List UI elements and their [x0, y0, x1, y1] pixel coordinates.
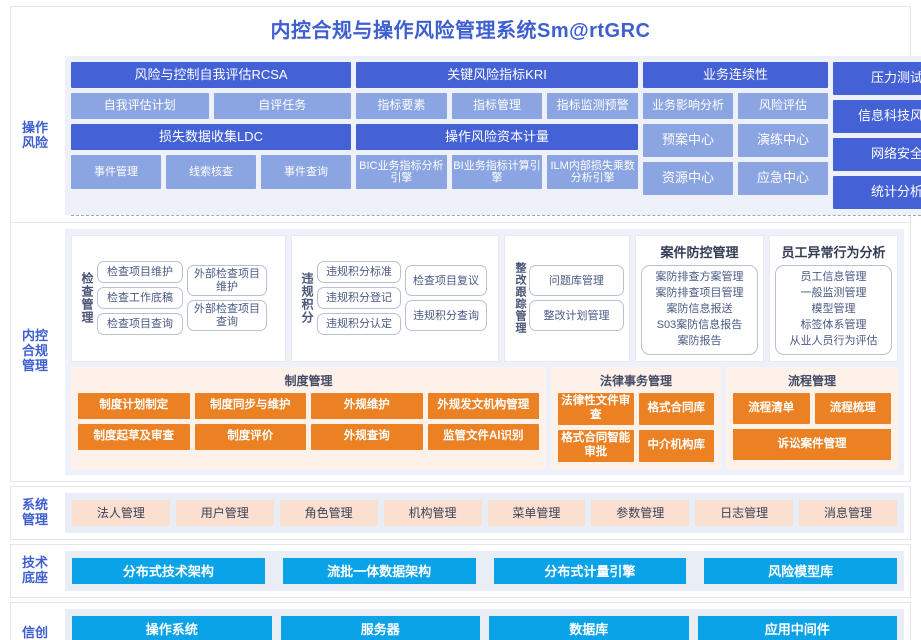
label-line-1: 内控 — [22, 328, 48, 343]
btn-log-mgmt[interactable]: 日志管理 — [695, 500, 793, 526]
btn-message-mgmt[interactable]: 消息管理 — [799, 500, 897, 526]
rcsa-subs: 自我评估计划 自评任务 — [71, 93, 351, 119]
btn-external-rule-maintain[interactable]: 外规维护 — [311, 393, 423, 419]
label-line-2: 合规 — [22, 343, 48, 358]
internal-control-cards: 检查管理 检查项目维护 检查工作底稿 检查项目查询 外部检查项目维护 外部检查项… — [71, 235, 898, 362]
legal-affairs-grid: 法律性文件审查 格式合同库 格式合同智能审批 中介机构库 — [558, 393, 714, 462]
item-case-report[interactable]: 案防报告 — [650, 334, 749, 350]
card-head-process-management: 流程管理 — [733, 372, 891, 389]
btn-external-rule-query[interactable]: 外规查询 — [311, 424, 423, 450]
system-management-body: 法人管理 用户管理 角色管理 机构管理 菜单管理 参数管理 日志管理 消息管理 — [59, 487, 910, 539]
module-kri[interactable]: 关键风险指标KRI — [356, 62, 638, 88]
module-stress-testing[interactable]: 压力测试 — [833, 62, 921, 95]
violation-col-b: 检查项目复议 违规积分查询 — [405, 265, 487, 331]
btn-policy-plan[interactable]: 制度计划制定 — [78, 393, 190, 419]
submodule-bi-engine[interactable]: BI业务指标计算引擎 — [452, 155, 543, 189]
module-it-risk[interactable]: 信息科技风险 — [833, 100, 921, 133]
innovation-support-body: 操作系统 麒麟、统信、中科方德… 服务器 龙芯、兆芯、海思… 数据库 达梦、人大… — [59, 603, 910, 640]
submodule-bia[interactable]: 业务影响分析 — [643, 93, 733, 119]
label-line-1: 操作 — [22, 120, 48, 135]
label-line-1: 信创 — [22, 625, 48, 640]
card-head-policy-management: 制度管理 — [78, 372, 539, 389]
bc-row-2: 预案中心 演练中心 — [643, 124, 828, 157]
group-kri-capital: 关键风险指标KRI 指标要素 指标管理 指标监测预警 操作风险资本计量 BIC业… — [356, 62, 638, 209]
card-head-legal-affairs: 法律事务管理 — [558, 372, 714, 389]
section-label-system-management: 系统 管理 — [11, 487, 59, 539]
btn-intermediary-library[interactable]: 中介机构库 — [639, 430, 715, 462]
section-operational-risk: 操作 风险 风险与控制自我评估RCSA 自我评估计划 自评任务 损失数据收集LD… — [10, 50, 911, 223]
item-external-inspection-maintain[interactable]: 外部检查项目维护 — [187, 265, 267, 296]
section-tech-base: 技术 底座 分布式技术架构 流批一体数据架构 分布式计量引擎 风险模型库 — [10, 544, 911, 598]
btn-contract-smart-approval[interactable]: 格式合同智能审批 — [558, 430, 634, 462]
btn-standard-contract-library[interactable]: 格式合同库 — [639, 393, 715, 425]
group-rcsa-ldc: 风险与控制自我评估RCSA 自我评估计划 自评任务 损失数据收集LDC 事件管理… — [71, 62, 351, 209]
card-case-prevention: 案件防控管理 案防排查方案管理 案防排查项目管理 案防信息报送 S03案防信息报… — [635, 235, 764, 362]
btn-legal-doc-review[interactable]: 法律性文件审查 — [558, 393, 634, 425]
section-label-operational-risk: 操作 风险 — [11, 50, 59, 222]
page-title: 内控合规与操作风险管理系统Sm@rtGRC — [270, 14, 650, 43]
innovation-support-grid: 操作系统 麒麟、统信、中科方德… 服务器 龙芯、兆芯、海思… 数据库 达梦、人大… — [72, 616, 897, 640]
submodule-self-assessment-plan[interactable]: 自我评估计划 — [71, 93, 209, 119]
btn-regulatory-ai-recognition[interactable]: 监管文件AI识别 — [428, 424, 540, 450]
process-management-grid: 流程清单 流程梳理 诉讼案件管理 — [733, 393, 891, 460]
card-process-management: 流程管理 流程清单 流程梳理 诉讼案件管理 — [726, 367, 898, 469]
section-label-internal-control: 内控 合规 管理 — [11, 223, 59, 481]
btn-user-mgmt[interactable]: 用户管理 — [176, 500, 274, 526]
item-inspection-project-maintain[interactable]: 检查项目维护 — [97, 261, 183, 283]
module-ldc[interactable]: 损失数据收集LDC — [71, 124, 351, 150]
section-label-tech-base: 技术 底座 — [11, 545, 59, 597]
submodule-bic-engine[interactable]: BIC业务指标分析引擎 — [356, 155, 447, 189]
btn-process-combing[interactable]: 流程梳理 — [815, 393, 892, 424]
group-middleware: 应用中间件 东方通、宝兰德、中创… — [698, 616, 898, 640]
section-label-innovation-support: 信创 支持 — [11, 603, 59, 640]
btn-policy-draft-review[interactable]: 制度起草及审查 — [78, 424, 190, 450]
label-line-2: 风险 — [22, 135, 48, 150]
submodule-self-assessment-task[interactable]: 自评任务 — [214, 93, 352, 119]
title-bar: 内控合规与操作风险管理系统Sm@rtGRC — [10, 6, 911, 50]
module-or-capital[interactable]: 操作风险资本计量 — [356, 124, 638, 150]
item-violation-query[interactable]: 违规积分查询 — [405, 300, 487, 331]
btn-distributed-calc-engine[interactable]: 分布式计量引擎 — [494, 558, 687, 584]
item-issue-library[interactable]: 问题库管理 — [529, 265, 624, 296]
card-head-employee-behavior: 员工异常行为分析 — [775, 242, 892, 261]
head-database[interactable]: 数据库 — [489, 616, 689, 640]
item-rectification-plan[interactable]: 整改计划管理 — [529, 300, 624, 331]
tech-base-body: 分布式技术架构 流批一体数据架构 分布式计量引擎 风险模型库 — [59, 545, 910, 597]
group-standalone-modules: 压力测试 信息科技风险 网络安全 统计分析 — [833, 62, 921, 209]
tech-base-grid: 分布式技术架构 流批一体数据架构 分布式计量引擎 风险模型库 — [72, 558, 897, 584]
item-violation-confirm[interactable]: 违规积分认定 — [317, 313, 401, 335]
btn-external-issuing-org[interactable]: 外规发文机构管理 — [428, 393, 540, 419]
submodule-indicator-monitoring[interactable]: 指标监测预警 — [547, 93, 638, 119]
label-line-1: 系统 — [22, 497, 48, 512]
submodule-risk-assessment[interactable]: 风险评估 — [738, 93, 828, 119]
submodule-ilm-engine[interactable]: ILM内部损失乘数分析引擎 — [547, 155, 638, 189]
btn-org-mgmt[interactable]: 机构管理 — [384, 500, 482, 526]
item-model-management[interactable]: 模型管理 — [784, 302, 883, 318]
card-vlabel-rectification: 整改跟踪管理 — [514, 262, 525, 334]
submodule-event-query[interactable]: 事件查询 — [261, 155, 351, 189]
submodule-plan-center[interactable]: 预案中心 — [643, 124, 733, 157]
module-business-continuity[interactable]: 业务连续性 — [643, 62, 828, 88]
submodule-event-management[interactable]: 事件管理 — [71, 155, 161, 189]
submodule-clue-check[interactable]: 线索核查 — [166, 155, 256, 189]
section-innovation-support: 信创 支持 操作系统 麒麟、统信、中科方德… 服务器 龙芯、兆芯、海思… 数据库 — [10, 602, 911, 640]
system-management-panel: 法人管理 用户管理 角色管理 机构管理 菜单管理 参数管理 日志管理 消息管理 — [65, 493, 904, 533]
btn-distributed-tech-arch[interactable]: 分布式技术架构 — [72, 558, 265, 584]
btn-stream-batch-data-arch[interactable]: 流批一体数据架构 — [283, 558, 476, 584]
card-rectification-tracking: 整改跟踪管理 问题库管理 整改计划管理 — [504, 235, 630, 362]
group-operating-system: 操作系统 麒麟、统信、中科方德… — [72, 616, 272, 640]
label-line-1: 技术 — [22, 555, 48, 570]
label-line-3: 管理 — [22, 358, 48, 373]
section-internal-control: 内控 合规 管理 检查管理 检查项目维护 检查工作底稿 检查项目查询 — [10, 223, 911, 482]
module-statistical-analysis[interactable]: 统计分析 — [833, 176, 921, 209]
btn-litigation-case-mgmt[interactable]: 诉讼案件管理 — [733, 429, 891, 460]
item-violation-standard[interactable]: 违规积分标准 — [317, 261, 401, 283]
internal-control-body: 检查管理 检查项目维护 检查工作底稿 检查项目查询 外部检查项目维护 外部检查项… — [59, 223, 910, 481]
card-vlabel-violation: 违规积分 — [301, 272, 313, 324]
internal-control-orange-row: 制度管理 制度计划制定 制度同步与维护 外规维护 外规发文机构管理 制度起草及审… — [71, 367, 898, 469]
card-violation-points: 违规积分 违规积分标准 违规积分登记 违规积分认定 检查项目复议 违规积分查询 — [291, 235, 499, 362]
card-employee-behavior: 员工异常行为分析 员工信息管理 一般监测管理 模型管理 标签体系管理 从业人员行… — [769, 235, 898, 362]
item-inspection-project-query[interactable]: 检查项目查询 — [97, 313, 183, 335]
submodule-indicator-elements[interactable]: 指标要素 — [356, 93, 447, 119]
item-employee-info[interactable]: 员工信息管理 — [784, 270, 883, 286]
group-database: 数据库 达梦、人大金仓、OcenBase… — [489, 616, 689, 640]
card-head-case-prevention: 案件防控管理 — [641, 242, 758, 261]
submodule-emergency-center[interactable]: 应急中心 — [738, 162, 828, 195]
system-management-grid: 法人管理 用户管理 角色管理 机构管理 菜单管理 参数管理 日志管理 消息管理 — [72, 500, 897, 526]
module-rcsa[interactable]: 风险与控制自我评估RCSA — [71, 62, 351, 88]
rectification-col: 问题库管理 整改计划管理 — [529, 265, 624, 331]
inspection-col-a: 检查项目维护 检查工作底稿 检查项目查询 — [97, 261, 183, 335]
card-inspection-management: 检查管理 检查项目维护 检查工作底稿 检查项目查询 外部检查项目维护 外部检查项… — [71, 235, 286, 362]
btn-role-mgmt[interactable]: 角色管理 — [280, 500, 378, 526]
btn-process-list[interactable]: 流程清单 — [733, 393, 810, 424]
kri-subs: 指标要素 指标管理 指标监测预警 — [356, 93, 638, 119]
btn-legal-entity-mgmt[interactable]: 法人管理 — [72, 500, 170, 526]
section-system-management: 系统 管理 法人管理 用户管理 角色管理 机构管理 菜单管理 参数管理 日志管理… — [10, 486, 911, 540]
bc-row-3: 资源中心 应急中心 — [643, 162, 828, 195]
dashed-divider — [71, 215, 921, 216]
operational-risk-body: 风险与控制自我评估RCSA 自我评估计划 自评任务 损失数据收集LDC 事件管理… — [59, 50, 921, 222]
head-operating-system[interactable]: 操作系统 — [72, 616, 272, 640]
head-middleware[interactable]: 应用中间件 — [698, 616, 898, 640]
btn-menu-mgmt[interactable]: 菜单管理 — [488, 500, 586, 526]
item-violation-register[interactable]: 违规积分登记 — [317, 287, 401, 309]
inspection-col-b: 外部检查项目维护 外部检查项目查询 — [187, 265, 267, 331]
internal-control-panel: 检查管理 检查项目维护 检查工作底稿 检查项目查询 外部检查项目维护 外部检查项… — [65, 229, 904, 475]
label-line-2: 底座 — [22, 570, 48, 585]
btn-policy-sync-maintain[interactable]: 制度同步与维护 — [195, 393, 307, 419]
item-practitioner-assessment[interactable]: 从业人员行为评估 — [784, 334, 883, 350]
operational-risk-grid: 风险与控制自我评估RCSA 自我评估计划 自评任务 损失数据收集LDC 事件管理… — [71, 62, 921, 209]
policy-management-grid: 制度计划制定 制度同步与维护 外规维护 外规发文机构管理 制度起草及审查 制度评… — [78, 393, 539, 450]
item-case-plan-mgmt[interactable]: 案防排查方案管理 — [650, 270, 749, 286]
ldc-subs: 事件管理 线索核查 事件查询 — [71, 155, 351, 189]
group-business-continuity: 业务连续性 业务影响分析 风险评估 预案中心 演练中心 资源中心 应急中心 — [643, 62, 828, 209]
item-inspection-workpaper[interactable]: 检查工作底稿 — [97, 287, 183, 309]
bc-row-1: 业务影响分析 风险评估 — [643, 93, 828, 119]
item-tag-system[interactable]: 标签体系管理 — [784, 318, 883, 334]
card-legal-affairs: 法律事务管理 法律性文件审查 格式合同库 格式合同智能审批 中介机构库 — [551, 367, 721, 469]
tech-base-panel: 分布式技术架构 流批一体数据架构 分布式计量引擎 风险模型库 — [65, 551, 904, 591]
item-case-project-mgmt[interactable]: 案防排查项目管理 — [650, 286, 749, 302]
group-server: 服务器 龙芯、兆芯、海思… — [281, 616, 481, 640]
item-inspection-reconsideration[interactable]: 检查项目复议 — [405, 265, 487, 296]
card-policy-management: 制度管理 制度计划制定 制度同步与维护 外规维护 外规发文机构管理 制度起草及审… — [71, 367, 546, 469]
innovation-support-panel: 操作系统 麒麟、统信、中科方德… 服务器 龙芯、兆芯、海思… 数据库 达梦、人大… — [65, 609, 904, 640]
label-line-2: 管理 — [22, 512, 48, 527]
operational-risk-panel: 风险与控制自我评估RCSA 自我评估计划 自评任务 损失数据收集LDC 事件管理… — [65, 56, 921, 215]
submodule-resource-center[interactable]: 资源中心 — [643, 162, 733, 195]
module-network-security[interactable]: 网络安全 — [833, 138, 921, 171]
item-case-info-report[interactable]: 案防信息报送 — [650, 302, 749, 318]
head-server[interactable]: 服务器 — [281, 616, 481, 640]
btn-risk-model-library[interactable]: 风险模型库 — [704, 558, 897, 584]
item-external-inspection-query[interactable]: 外部检查项目查询 — [187, 300, 267, 331]
btn-policy-evaluation[interactable]: 制度评价 — [195, 424, 307, 450]
violation-col-a: 违规积分标准 违规积分登记 违规积分认定 — [317, 261, 401, 335]
capital-subs: BIC业务指标分析引擎 BI业务指标计算引擎 ILM内部损失乘数分析引擎 — [356, 155, 638, 189]
list-case-prevention[interactable]: 案防排查方案管理 案防排查项目管理 案防信息报送 S03案防信息报告 案防报告 — [641, 265, 758, 355]
submodule-indicator-management[interactable]: 指标管理 — [452, 93, 543, 119]
list-employee-behavior[interactable]: 员工信息管理 一般监测管理 模型管理 标签体系管理 从业人员行为评估 — [775, 265, 892, 355]
btn-parameter-mgmt[interactable]: 参数管理 — [591, 500, 689, 526]
item-general-monitoring[interactable]: 一般监测管理 — [784, 286, 883, 302]
page-root: 内控合规与操作风险管理系统Sm@rtGRC 操作 风险 风险与控制自我评估RCS… — [0, 0, 921, 640]
card-vlabel-inspection: 检查管理 — [81, 272, 93, 324]
submodule-drill-center[interactable]: 演练中心 — [738, 124, 828, 157]
item-case-s03-report[interactable]: S03案防信息报告 — [650, 318, 749, 334]
